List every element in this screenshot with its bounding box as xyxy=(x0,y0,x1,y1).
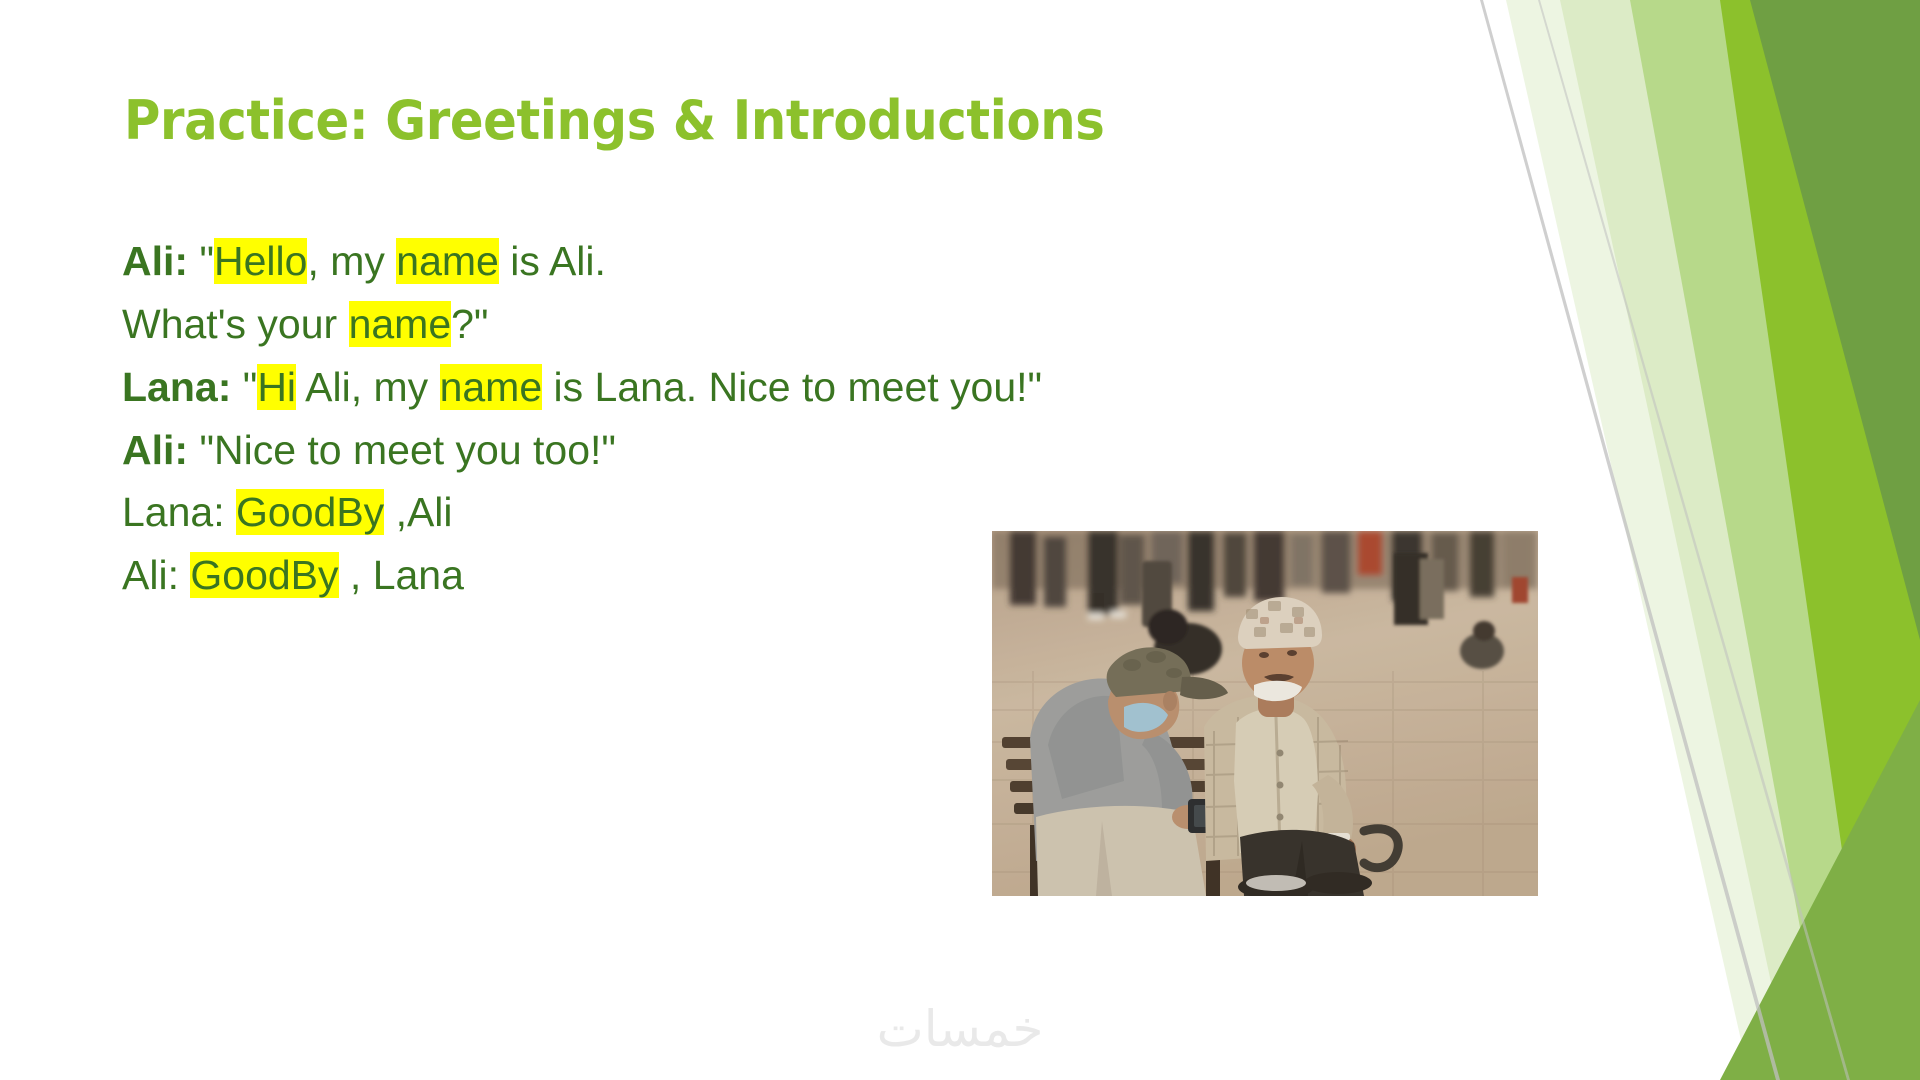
decor-shape-dark-green xyxy=(1750,0,1920,640)
line6-gap xyxy=(179,552,190,598)
highlight-name-3: name xyxy=(440,364,543,410)
highlight-name-2: name xyxy=(349,301,452,347)
speaker-label-lana-2: Lana: xyxy=(122,489,225,535)
line6-tail: , Lana xyxy=(339,552,464,598)
highlight-hello: Hello xyxy=(214,238,307,284)
line2-tail: ?" xyxy=(451,301,488,347)
decor-shape-pale-wedge xyxy=(1506,0,1920,1080)
line1-open-quote: " xyxy=(188,238,214,284)
line3-tail: is Lana. Nice to meet you!" xyxy=(542,364,1042,410)
dialogue-line-2: What's your name?" xyxy=(122,295,1282,355)
highlight-goodby-2: GoodBy xyxy=(190,552,338,598)
street-scene-two-men-on-bench-photo xyxy=(992,531,1538,896)
highlight-hi: Hi xyxy=(257,364,296,410)
line5-gap xyxy=(225,489,236,535)
page-title: Practice: Greetings & Introductions xyxy=(124,92,1274,150)
line5-tail: ,Ali xyxy=(384,489,452,535)
line4-tail: "Nice to meet you too!" xyxy=(188,427,616,473)
line1-tail: is Ali. xyxy=(499,238,606,284)
decor-shape-bright-green xyxy=(1720,0,1920,1080)
dialogue-line-4: Ali: "Nice to meet you too!" xyxy=(122,421,1282,481)
presentation-slide: Practice: Greetings & Introductions Ali:… xyxy=(0,0,1920,1080)
speaker-label-ali-1: Ali: xyxy=(122,238,188,284)
watermark-text: خمسات xyxy=(0,1000,1920,1058)
line3-mid: Ali, my xyxy=(296,364,440,410)
highlight-goodby-1: GoodBy xyxy=(236,489,384,535)
decor-hairline-2 xyxy=(1538,0,1850,1080)
highlight-name-1: name xyxy=(396,238,499,284)
speaker-label-ali-3: Ali: xyxy=(122,552,179,598)
dialogue-line-3: Lana: "Hi Ali, my name is Lana. Nice to … xyxy=(122,358,1252,418)
decor-shape-light-wedge xyxy=(1560,0,1920,1080)
line3-open-quote: " xyxy=(231,364,257,410)
decor-shape-lightgreen-band xyxy=(1630,0,1920,1080)
dialogue-line-1: Ali: "Hello, my name is Ali. xyxy=(122,232,1282,292)
speaker-label-ali-2: Ali: xyxy=(122,427,188,473)
line1-mid: , my xyxy=(307,238,396,284)
line2-lead: What's your xyxy=(122,301,349,347)
speaker-label-lana-1: Lana: xyxy=(122,364,231,410)
